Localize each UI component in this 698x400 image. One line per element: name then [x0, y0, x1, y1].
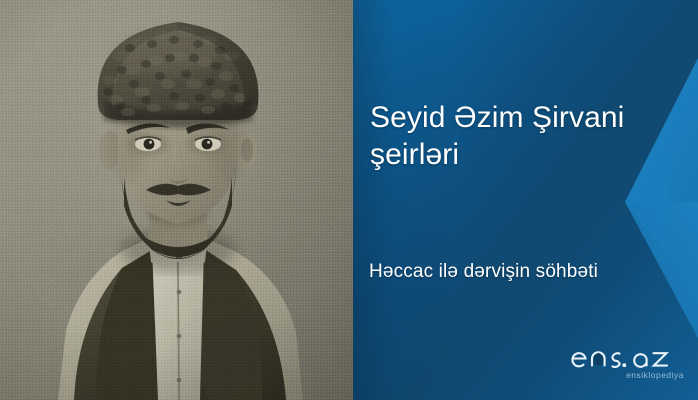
- portrait-illustration: [0, 0, 353, 400]
- cover-banner: Seyid Əzim Şirvani şeirləri Həccac ilə d…: [0, 0, 698, 400]
- page-title: Seyid Əzim Şirvani şeirləri: [370, 99, 688, 173]
- ens-az-logo[interactable]: ensiklopediya: [568, 340, 686, 382]
- page-subtitle: Həccac ilə dərvişin söhbəti: [369, 259, 691, 285]
- title-panel: Seyid Əzim Şirvani şeirləri Həccac ilə d…: [353, 0, 698, 400]
- logo-tagline: ensiklopediya: [626, 370, 684, 380]
- portrait-photo: [0, 0, 353, 400]
- ens-az-logo-svg: ensiklopediya: [568, 340, 686, 382]
